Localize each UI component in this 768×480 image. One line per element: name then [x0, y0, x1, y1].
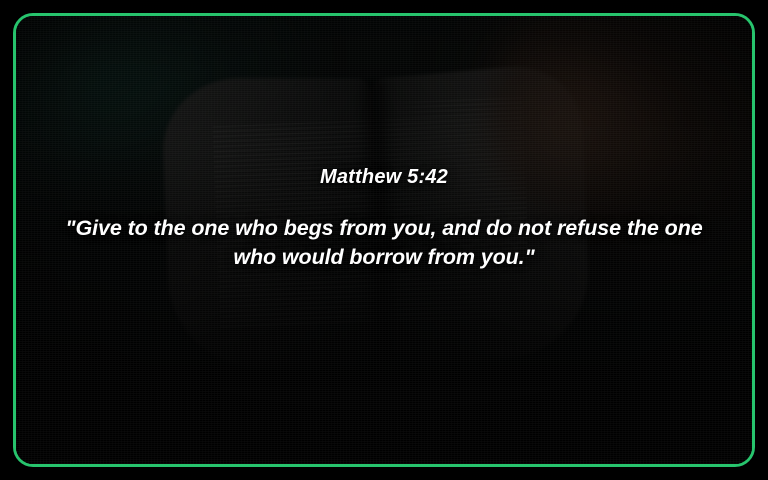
verse-quote-card: Matthew 5:42 "Give to the one who begs f… [13, 13, 755, 467]
screenshot-root: Matthew 5:42 "Give to the one who begs f… [0, 0, 768, 480]
verse-body-text: "Give to the one who begs from you, and … [48, 214, 720, 271]
verse-text-block: Matthew 5:42 "Give to the one who begs f… [16, 166, 752, 271]
verse-reference: Matthew 5:42 [38, 166, 730, 189]
